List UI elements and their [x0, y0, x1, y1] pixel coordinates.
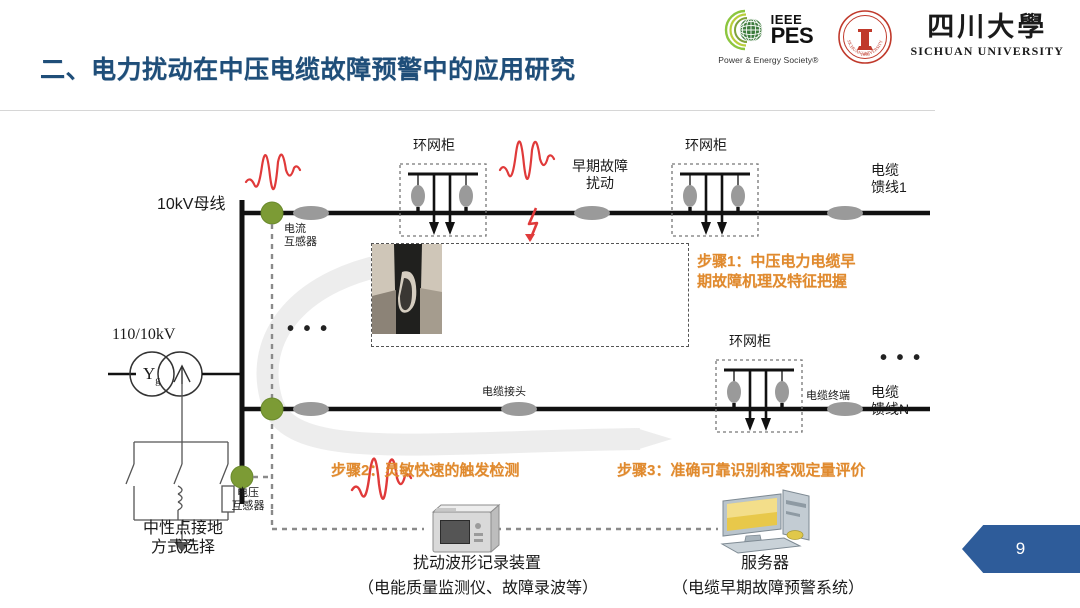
slide-root: IEEE PES Power & Energy Society® 1896 SI… [0, 0, 1080, 608]
system-diagram: 10kV母线 110/10kV Yg 中性点接地 方式选择 电流 互感器 电压 … [0, 112, 1080, 608]
step-1-text: 步骤1：中压电力电缆早 期故障机理及特征把握 [697, 252, 855, 293]
ieee-globe-icon [724, 8, 768, 52]
bus-label: 10kV母线 [157, 196, 225, 215]
cable-joint-label: 电缆接头 [482, 386, 526, 399]
pes-label: PES [771, 26, 814, 46]
cable-terminal-label: 电缆终端 [806, 390, 850, 403]
recorder-detail-label: （电能质量监测仪、故障录波等） [337, 580, 619, 599]
page-title: 二、电力扰动在中压电缆故障预警中的应用研究 [40, 50, 576, 86]
step-3-text: 步骤3：准确可靠识别和客观定量评价 [617, 461, 865, 481]
recorder-name-label: 扰动波形记录装置 [352, 555, 602, 574]
ring-main-unit-3-label: 环网柜 [685, 137, 727, 154]
cable-damage-photo-strip [371, 243, 689, 347]
server-name-label: 服务器 [690, 555, 840, 574]
sichuan-university-seal-icon: 1896 SICHUAN UNIVERSITY [837, 9, 893, 65]
scu-name-en: SICHUAN UNIVERSITY [911, 44, 1065, 59]
current-transformer-label: 电流 互感器 [284, 223, 317, 249]
header-logo-group: IEEE PES Power & Energy Society® 1896 SI… [718, 8, 1064, 65]
cable-damage-photo-4 [372, 244, 442, 334]
pes-tagline: Power & Energy Society® [718, 55, 818, 65]
server-computer-icon [722, 490, 809, 553]
server-detail-label: （电缆早期故障预警系统） [643, 580, 893, 599]
ellipsis-left: • • • [287, 319, 329, 339]
ring-main-unit-1-label: 环网柜 [413, 137, 455, 154]
early-fault-disturbance-label: 早期故障 扰动 [560, 158, 640, 191]
ieee-pes-logo: IEEE PES Power & Energy Society® [718, 8, 818, 65]
ring-main-unit-2-label: 环网柜 [729, 333, 771, 350]
ellipsis-right: • • • [880, 348, 922, 368]
scu-name-cn: 四川大學 [927, 14, 1047, 41]
step-2-text: 步骤2：灵敏快速的触发检测 [331, 461, 519, 481]
title-divider [0, 110, 935, 111]
feeder-n-label: 电缆 馈线N [871, 384, 909, 417]
neutral-grounding-label: 中性点接地 方式选择 [108, 520, 258, 558]
voltage-transformer-label: 电压 互感器 [220, 487, 276, 513]
feeder-1-label: 电缆 馈线1 [871, 162, 907, 195]
transformer-winding-label: Yg [143, 364, 160, 387]
disturbance-recorder-device-icon [433, 505, 499, 552]
transformer-rating-label: 110/10kV [112, 326, 175, 345]
sichuan-university-wordmark: 四川大學 SICHUAN UNIVERSITY [911, 14, 1065, 59]
